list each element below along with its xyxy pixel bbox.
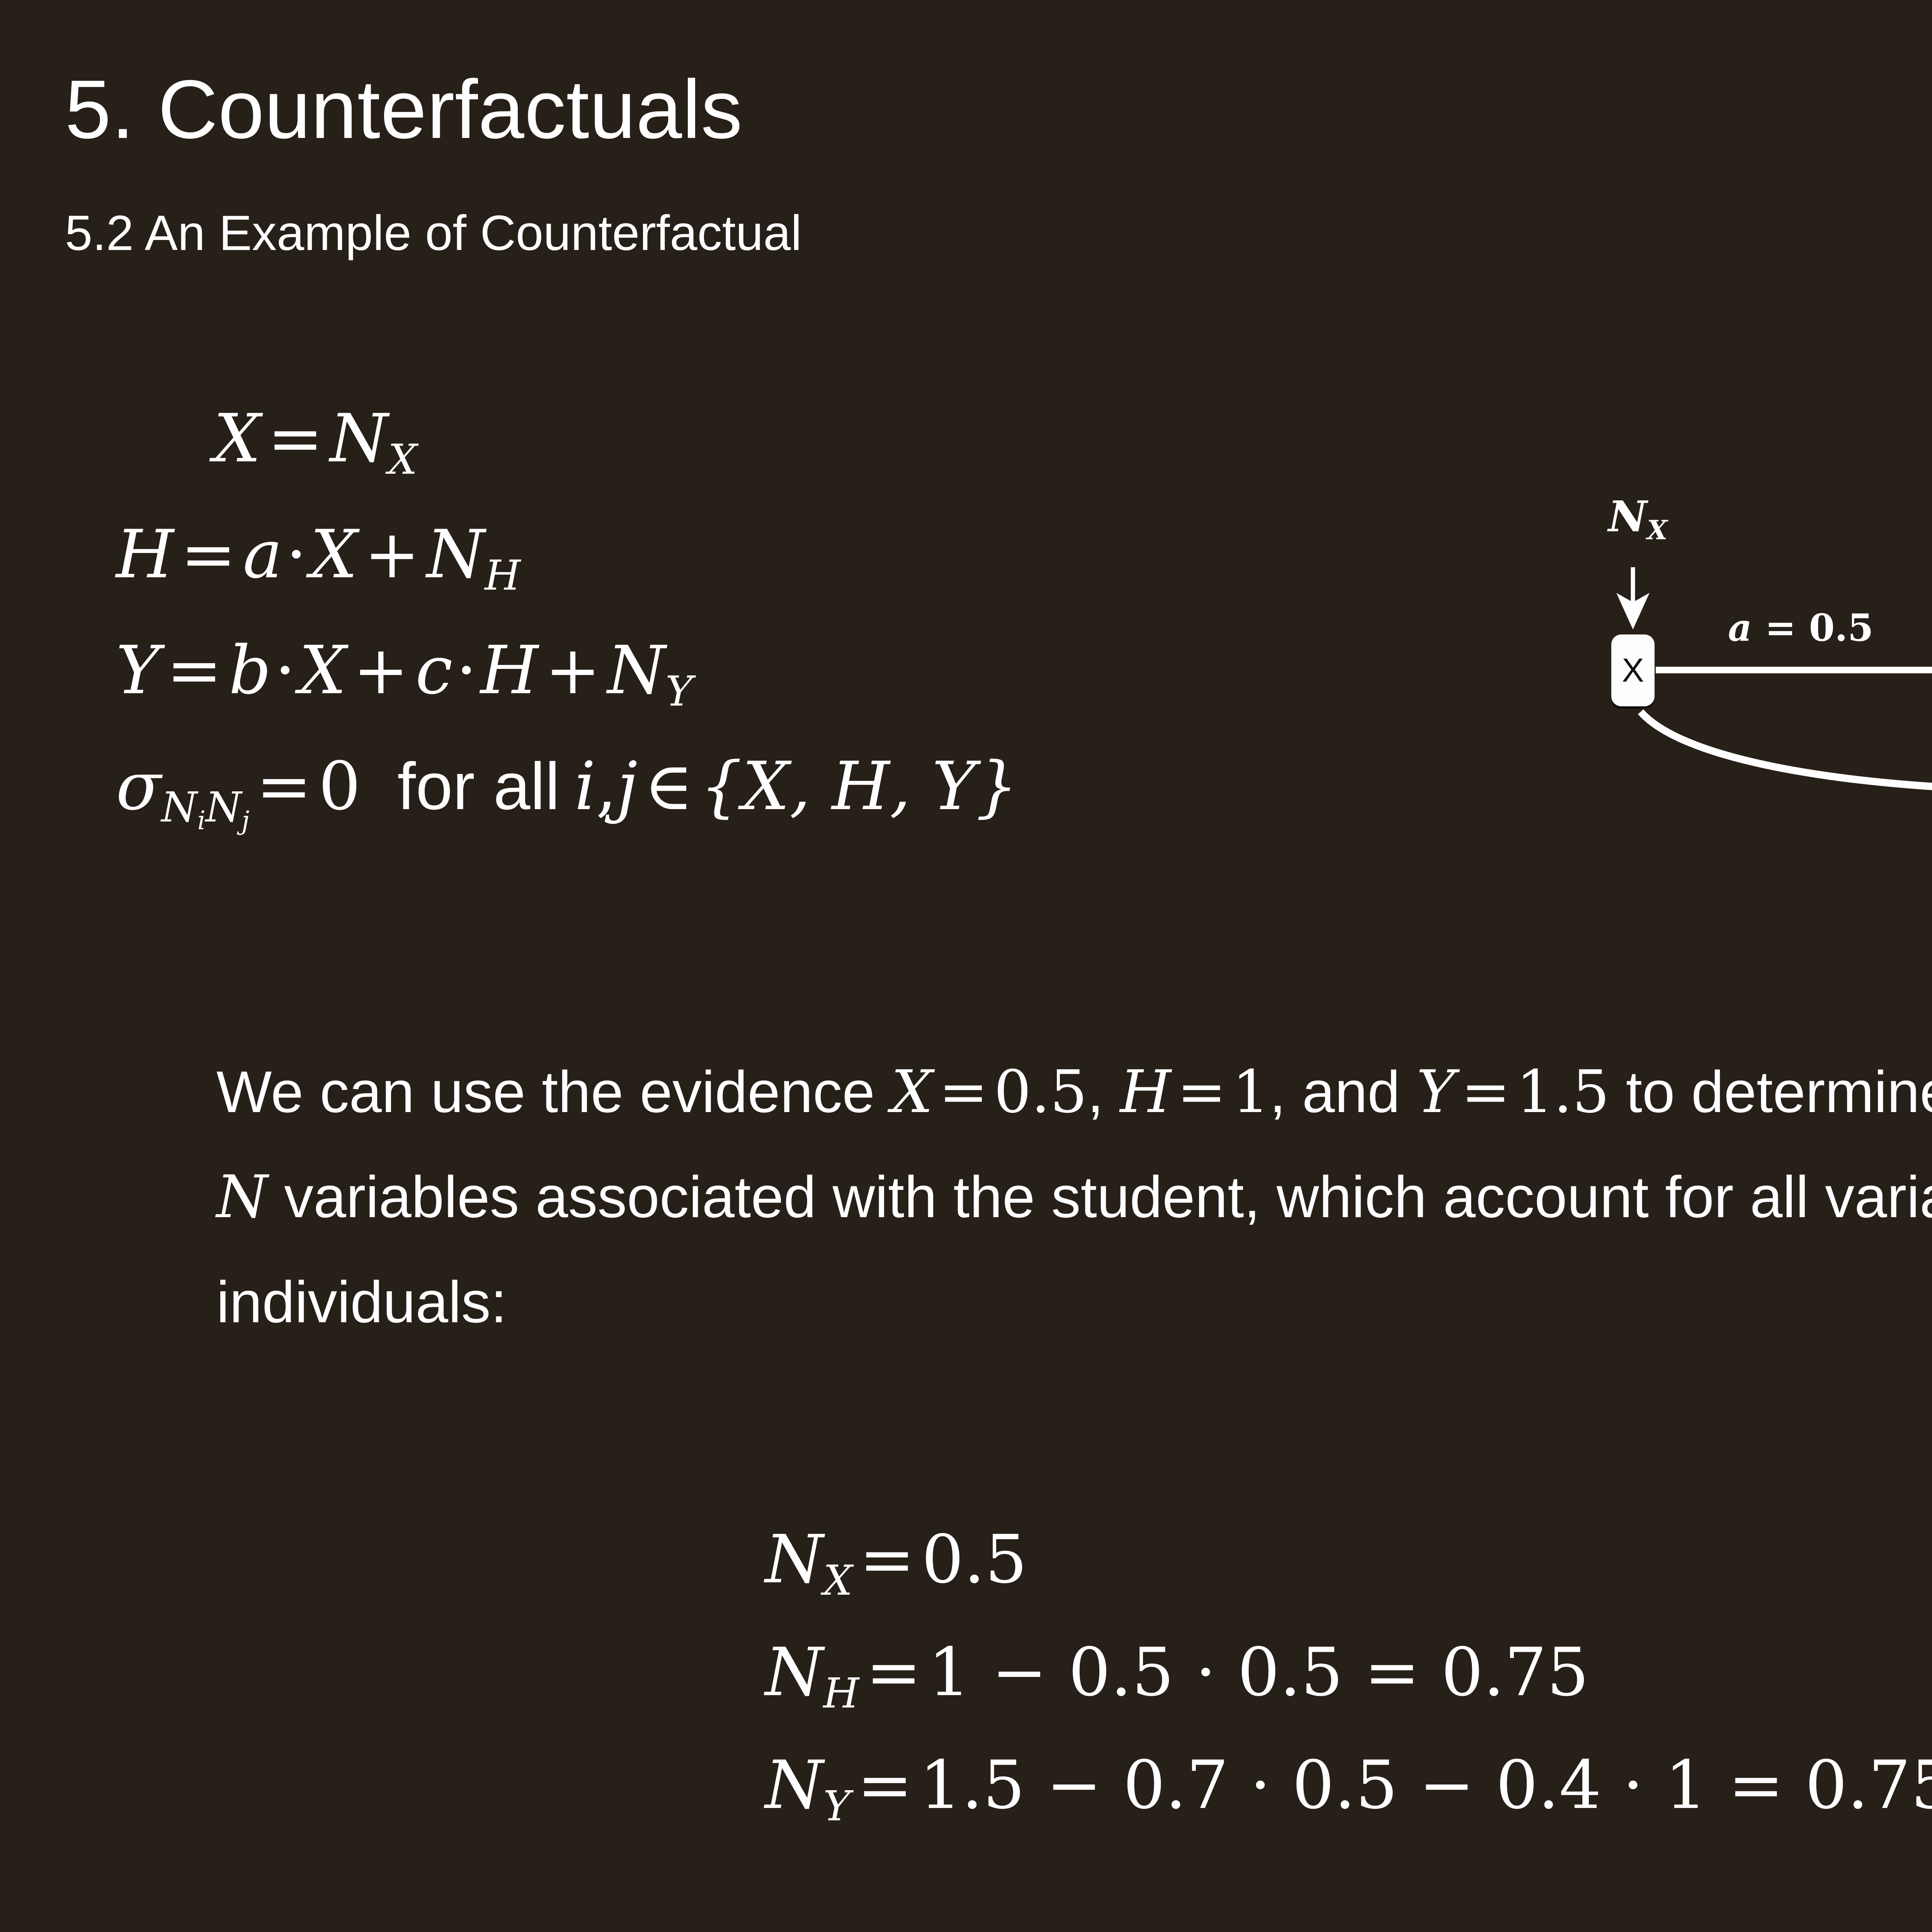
para-evidence-h: H=1	[1120, 1058, 1269, 1126]
eq-x-lhs: X	[214, 400, 261, 477]
eq-x-noise: N	[330, 400, 388, 477]
para-text-5: variables associated with the student, w…	[216, 1164, 1932, 1335]
solved-ny-base: N	[765, 1746, 823, 1824]
solved-equation-nx: NX=0.5	[765, 1503, 1932, 1616]
equation-x: X=NX	[116, 381, 1352, 497]
eq-h-coef-a: a	[243, 515, 283, 593]
structural-equations: X=NX H=a·X+NH Y=b·X+c·H+NY σNiNj=0for al…	[116, 381, 1352, 844]
edge-label-a: a = 0.5	[1728, 606, 1874, 650]
node-x[interactable]: X	[1611, 634, 1655, 706]
eq-y-equals: =	[160, 631, 229, 709]
eq-y-plus-1: +	[346, 631, 415, 709]
para-x-val: 0.5	[994, 1058, 1087, 1126]
eq-y-lhs: Y	[116, 631, 160, 709]
eq-y-coef-b: b	[229, 631, 271, 709]
eq-sigma-zero: 0	[318, 747, 361, 825]
body-paragraph: We can use the evidence X=0.5, H=1, and …	[216, 1039, 1932, 1355]
para-text-2: ,	[1087, 1059, 1120, 1125]
solved-nh-sub: H	[823, 1670, 859, 1718]
eq-h-noise: N	[427, 515, 485, 593]
edge-x-to-y-curved	[1641, 712, 1932, 791]
eq-sigma-equals: =	[250, 747, 319, 825]
para-text-4: to determine the values of the	[1610, 1059, 1932, 1125]
eq-y-dot-2: ·	[452, 631, 480, 709]
noise-nx-sub: X	[1647, 515, 1668, 546]
eq-y-var-h: H	[480, 631, 538, 709]
para-text-3: , and	[1269, 1059, 1416, 1125]
solved-nx-sub: X	[823, 1557, 853, 1605]
solved-nx-expr: 0.5	[922, 1520, 1027, 1598]
eq-x-noise-sub: X	[388, 436, 417, 484]
solved-ny-expr: 1.5 − 0.7 · 0.5 − 0.4 · 1 = 0.75	[919, 1746, 1932, 1824]
equation-y: Y=b·X+c·H+NY	[116, 612, 1352, 728]
para-text-1: We can use the evidence	[216, 1059, 891, 1125]
edge-a-coef: a	[1728, 606, 1752, 650]
equation-h: H=a·X+NH	[116, 497, 1352, 612]
para-y-var: Y	[1417, 1058, 1455, 1126]
para-y-val: 1.5	[1516, 1058, 1610, 1126]
page-subtitle: 5.2 An Example of Counterfactual	[65, 209, 802, 258]
eq-y-var-x: X	[299, 631, 346, 709]
eq-y-plus-2: +	[538, 631, 607, 709]
page-title: 5. Counterfactuals	[65, 68, 743, 151]
eq-sigma-index-i: i	[575, 747, 596, 825]
node-x-label: X	[1622, 651, 1644, 690]
eq-sigma-index-j: j	[617, 747, 637, 825]
eq-sigma-comma: ,	[596, 747, 617, 825]
sigma-sub-i: i	[197, 806, 206, 835]
solved-equation-nh: NH=1 − 0.5 · 0.5 = 0.75	[765, 1616, 1932, 1729]
eq-y-coef-c: c	[415, 631, 452, 709]
eq-h-noise-sub: H	[485, 552, 520, 600]
sigma-sub-j: j	[241, 806, 250, 835]
eq-h-var-x: X	[310, 515, 357, 593]
solved-ny-eq: =	[850, 1746, 920, 1824]
eq-y-noise-sub: Y	[665, 668, 692, 716]
causal-diagram: NX NH NY a = 0.5 c = 0.4 b = 0.7 X H Y	[1577, 433, 1932, 889]
solved-nh-base: N	[765, 1633, 823, 1711]
solved-noise-equations: NX=0.5 NH=1 − 0.5 · 0.5 = 0.75 NY=1.5 − …	[765, 1503, 1932, 1842]
sigma-sub-n1: N	[161, 784, 197, 832]
slide-canvas: 5. Counterfactuals 5.2 An Example of Cou…	[0, 0, 1932, 1932]
eq-h-dot: ·	[282, 515, 310, 593]
solved-ny-sub: Y	[823, 1782, 850, 1830]
para-h-val: 1	[1232, 1058, 1270, 1126]
para-h-var: H	[1120, 1058, 1171, 1126]
noise-label-nx: NX	[1608, 492, 1667, 541]
eq-h-lhs: H	[116, 515, 174, 593]
solved-nx-base: N	[765, 1520, 823, 1598]
solved-nh-expr: 1 − 0.5 · 0.5 = 0.75	[928, 1633, 1589, 1711]
para-y-eq: =	[1455, 1058, 1516, 1126]
eq-h-plus: +	[357, 515, 427, 593]
eq-x-equals: =	[261, 400, 330, 477]
eq-sigma-symbol: σ	[116, 747, 161, 825]
eq-sigma-in: ∈	[638, 747, 700, 825]
solved-nh-eq: =	[859, 1633, 929, 1711]
solved-equation-ny: NY=1.5 − 0.7 · 0.5 − 0.4 · 1 = 0.75	[765, 1729, 1932, 1842]
eq-y-noise: N	[607, 631, 666, 709]
solved-nx-eq: =	[852, 1520, 922, 1598]
eq-y-dot-1: ·	[271, 631, 299, 709]
eq-sigma-forall-text: for all	[361, 749, 575, 823]
eq-sigma-set: {X, H, Y}	[700, 747, 1018, 825]
para-evidence-x: X=0.5	[891, 1058, 1087, 1126]
noise-nx-base: N	[1608, 492, 1647, 541]
sigma-sub-n2: N	[206, 784, 241, 832]
eq-sigma-subscript: NiNj	[161, 784, 249, 832]
equation-sigma: σNiNj=0for alli,j∈{X, H, Y}	[116, 728, 1352, 844]
para-noise-symbol: N	[216, 1163, 268, 1231]
para-x-var: X	[891, 1058, 933, 1126]
para-evidence-y: Y=1.5	[1417, 1058, 1610, 1126]
eq-h-equals: =	[174, 515, 243, 593]
edge-a-value: 0.5	[1809, 606, 1873, 650]
para-x-eq: =	[933, 1058, 994, 1126]
para-h-eq: =	[1171, 1058, 1232, 1126]
